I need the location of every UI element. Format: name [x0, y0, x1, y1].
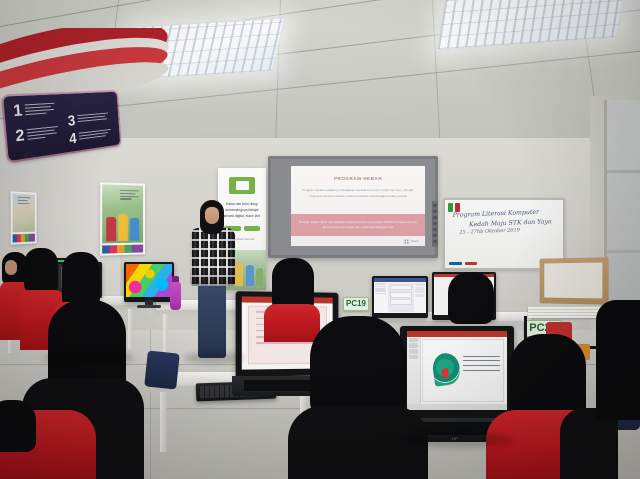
wall-sign-number-2: 2 [15, 127, 25, 144]
wall-poster-right [100, 182, 145, 255]
slide-band-text: Program adalah diberi oleh Malaysia Digi… [291, 220, 425, 230]
screen-side-trim [432, 201, 438, 247]
presentation-slide: PROGRAM HEBAH Program edukasi adalah pem… [291, 166, 425, 246]
whiteboard-text: Program Literasi Komputer Kedah Maju STK… [453, 207, 558, 238]
instructor-face [205, 207, 219, 224]
student-center-right [442, 272, 500, 336]
instructor [186, 200, 238, 358]
slide-title: PROGRAM HEBAH [291, 176, 425, 181]
student-right [596, 300, 640, 420]
student-far-left-foreground [0, 400, 96, 479]
pc-label-pc19: PC19 [343, 297, 369, 311]
banner-logo [229, 177, 255, 194]
desktop-wallpaper [126, 264, 172, 297]
wall-poster-left [11, 191, 37, 244]
cardboard-box [540, 257, 609, 305]
monitor-screen [126, 264, 172, 297]
slide-green-logo [431, 352, 462, 387]
slide-logo-label: Celcom [410, 240, 419, 243]
wall-sign-number-4: 4 [69, 131, 77, 147]
slide-highlight-band: Program adalah diberi oleh Malaysia Digi… [291, 214, 425, 236]
student-center-foreground-2 [288, 316, 428, 479]
instructor-trousers [198, 284, 226, 358]
slide-body-text: Program edukasi adalah pembelajaran kepa… [301, 188, 415, 199]
wall-sign-number-1: 1 [13, 102, 23, 119]
student-face [5, 260, 17, 275]
water-bottle[interactable] [170, 282, 181, 310]
whiteboard-marker-tray [449, 262, 489, 265]
student-hijab [24, 248, 58, 294]
red-wall-graphic [0, 28, 170, 98]
instructor-plaid-shirt [190, 228, 235, 286]
student-far-right [486, 334, 614, 479]
social-media-page [374, 278, 426, 313]
student-hijab [310, 316, 406, 420]
projection-screen: PROGRAM HEBAH Program edukasi adalah pem… [268, 156, 438, 258]
monitor-screen [374, 278, 426, 313]
student-hijab [0, 400, 36, 452]
wall-sign-number-3: 3 [67, 113, 76, 129]
student-hijab [596, 300, 640, 420]
monitor-facebook[interactable] [372, 276, 428, 318]
slide-logo: Celcom [404, 239, 419, 244]
student-hijab [448, 272, 494, 324]
monitor-center-wallpaper[interactable] [124, 262, 174, 302]
classroom-scene: 1 2 3 4 [0, 0, 640, 479]
backpack-under-desk [144, 350, 180, 389]
